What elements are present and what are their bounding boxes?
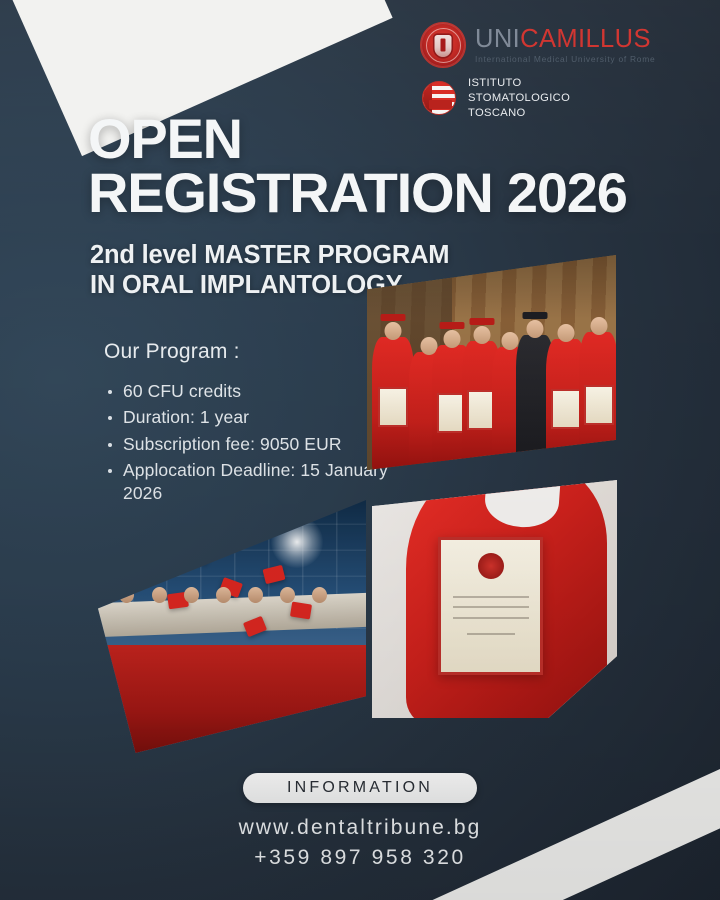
list-item: Duration: 1 year bbox=[104, 406, 404, 429]
phone-number[interactable]: +359 897 958 320 bbox=[0, 846, 720, 870]
istituto-stomatologico-logo-icon bbox=[422, 81, 456, 115]
wordmark-camillus: CAMILLUS bbox=[520, 25, 651, 53]
poster-footer: INFORMATION www.dentaltribune.bg +359 89… bbox=[0, 773, 720, 870]
poster-headline: OPEN REGISTRATION 2026 bbox=[88, 112, 627, 221]
cap-toss-photo bbox=[98, 495, 366, 753]
list-item: Applocation Deadline: 15 January 2026 bbox=[104, 459, 404, 506]
unicamillus-logo: UNICAMILLUS International Medical Univer… bbox=[420, 22, 700, 68]
brand-logos: UNICAMILLUS International Medical Univer… bbox=[420, 22, 700, 120]
website-link[interactable]: www.dentaltribune.bg bbox=[0, 816, 720, 840]
list-item: 60 CFU credits bbox=[104, 380, 404, 403]
institute-line-2: STOMATOLOGICO bbox=[468, 91, 570, 106]
diploma-holder-photo bbox=[372, 480, 617, 718]
unicamillus-crest-icon bbox=[420, 22, 466, 68]
information-badge: INFORMATION bbox=[243, 773, 477, 803]
university-tagline: International Medical University of Rome bbox=[475, 55, 655, 63]
graduation-group-photo bbox=[367, 255, 616, 470]
subhead-line-1: 2nd level MASTER PROGRAM bbox=[90, 240, 449, 270]
program-list: 60 CFU credits Duration: 1 year Subscrip… bbox=[104, 380, 404, 505]
program-details: Our Program : 60 CFU credits Duration: 1… bbox=[104, 340, 404, 508]
list-item: Subscription fee: 9050 EUR bbox=[104, 433, 404, 456]
poster-canvas: UNICAMILLUS International Medical Univer… bbox=[0, 0, 720, 900]
institute-line-1: ISTITUTO bbox=[468, 76, 570, 91]
headline-line-2: REGISTRATION 2026 bbox=[88, 166, 627, 220]
crest-shield-bar-icon bbox=[441, 39, 446, 52]
program-title: Our Program : bbox=[104, 340, 404, 364]
headline-line-1: OPEN bbox=[88, 112, 627, 166]
unicamillus-wordmark: UNICAMILLUS International Medical Univer… bbox=[475, 27, 655, 64]
wordmark-uni: UNI bbox=[475, 25, 520, 53]
